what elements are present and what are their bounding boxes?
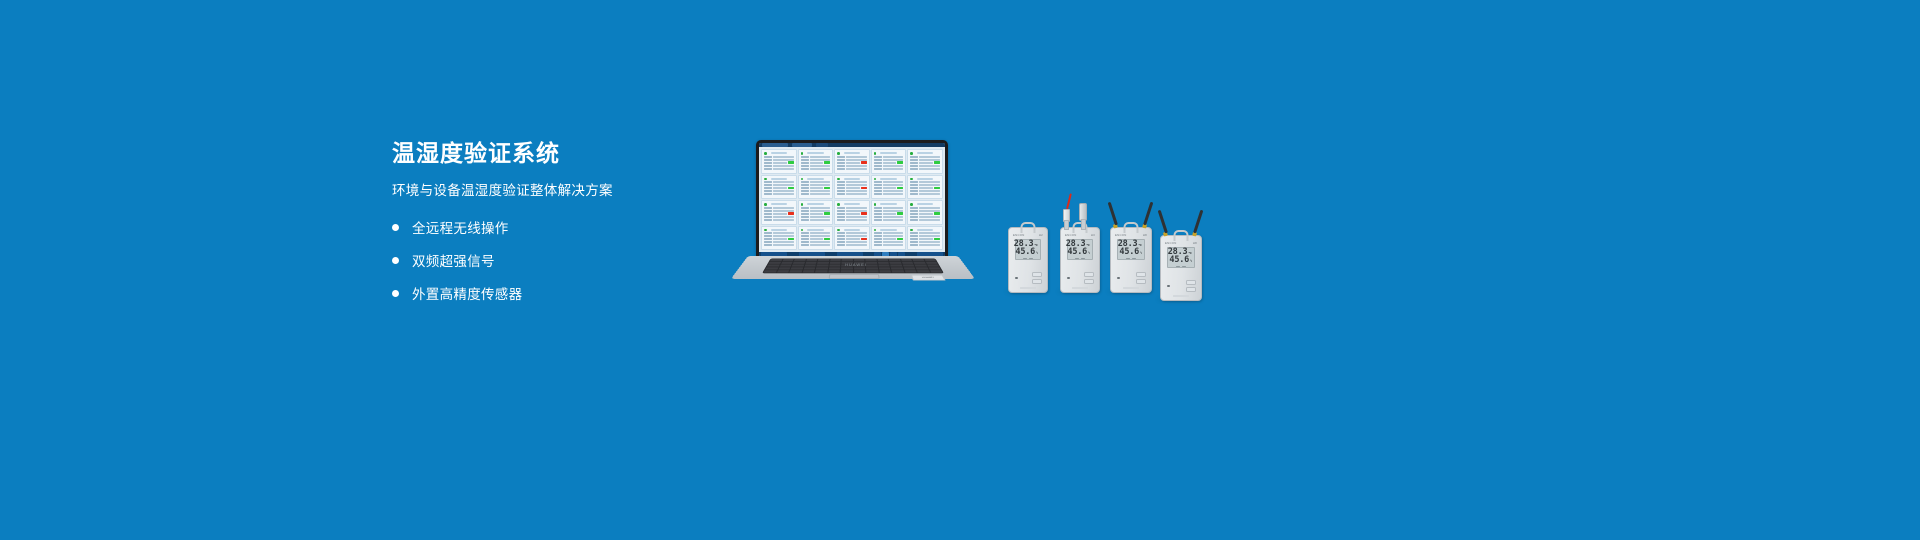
sensor-field-value: [810, 207, 831, 209]
sensor-field-value: [810, 241, 831, 243]
sensor-status-led: [801, 178, 804, 181]
sensor-card-field: [801, 216, 831, 218]
keyboard-key[interactable]: [854, 267, 866, 269]
sensor-ok-badge: [824, 187, 830, 190]
sensor-field-label: [764, 162, 772, 164]
sensor-field-label: [801, 241, 809, 243]
keyboard-key[interactable]: [927, 264, 939, 266]
sensor-field-value: [773, 213, 787, 215]
sensor-field-value: [846, 219, 867, 221]
sensor-field-value: [810, 165, 831, 167]
sensor-card-field: [874, 168, 904, 170]
sensor-field-label: [801, 207, 809, 209]
device-data-logger-compact[interactable]: ENCON H2 28.3 ℃ 45.6 %: [1008, 227, 1048, 293]
laptop-deck: HUAWEI: [731, 256, 975, 279]
keyboard-key[interactable]: [904, 270, 916, 272]
sensor-field-value: [810, 219, 831, 221]
sensor-field-value: [773, 241, 794, 243]
sensor-field-label: [910, 184, 918, 186]
sensor-field-label: [874, 159, 882, 161]
sensor-alarm-badge: [861, 161, 867, 164]
keyboard-key[interactable]: [889, 262, 901, 264]
keyboard-key[interactable]: [892, 270, 904, 272]
sensor-status-led: [874, 203, 877, 206]
sensor-field-label: [764, 184, 772, 186]
keyboard-key[interactable]: [803, 267, 815, 269]
sensor-card-field: [874, 244, 904, 246]
sensor-card[interactable]: [798, 149, 834, 174]
sensor-status-led: [837, 203, 840, 206]
sensor-card-title: [917, 229, 933, 231]
sensor-card-field: [837, 232, 867, 234]
device-led-indicator: [1015, 277, 1018, 280]
device-brand-right: H8: [1193, 241, 1197, 245]
keyboard-key[interactable]: [841, 267, 853, 269]
device-brand-row: ENCON H3: [1065, 233, 1095, 237]
sensor-status-led: [837, 229, 840, 232]
feature-item-2: 双频超强信号: [392, 250, 722, 270]
sensor-card-field: [874, 184, 904, 186]
sensor-card[interactable]: [761, 200, 797, 225]
sensor-field-label: [874, 219, 882, 221]
hang-loop-icon: [1124, 222, 1139, 233]
sensor-card-title: [771, 203, 787, 205]
device-key-up[interactable]: [1136, 272, 1146, 278]
sensor-card[interactable]: [907, 226, 943, 251]
keyboard-key[interactable]: [793, 262, 805, 264]
lcd-status-bit: [1182, 266, 1186, 267]
sensor-status-led: [874, 229, 877, 232]
sensor-field-label: [837, 190, 845, 192]
sensor-field-value: [883, 190, 904, 192]
device-data-logger-dual-antenna-2[interactable]: ENCON H8 28.3 ℃ 45.6 %: [1160, 235, 1202, 301]
sensor-field-label: [874, 193, 882, 195]
device-sticker: [1173, 295, 1189, 298]
sensor-card[interactable]: [761, 175, 797, 200]
keyboard-key[interactable]: [769, 262, 781, 264]
keyboard-key[interactable]: [925, 262, 937, 264]
sensor-field-label: [874, 165, 882, 167]
feature-item-3: 外置高精度传感器: [392, 283, 722, 303]
keyboard-key[interactable]: [778, 267, 790, 269]
device-lcd-display: 28.3 ℃ 45.6 %: [1167, 247, 1195, 268]
sensor-card[interactable]: [834, 175, 870, 200]
sensor-card-field: [801, 162, 831, 164]
keyboard-key[interactable]: [765, 267, 778, 269]
lcd-status-bit: [1132, 258, 1136, 259]
sensor-card-field: [874, 165, 904, 167]
sensor-card-title: [844, 178, 860, 180]
keyboard-key[interactable]: [781, 262, 793, 264]
sensor-field-label: [874, 187, 882, 189]
sensor-status-led: [837, 152, 840, 155]
sensor-field-label: [764, 165, 772, 167]
sensor-card[interactable]: [834, 149, 870, 174]
antenna-left-icon: [1107, 202, 1117, 226]
keyboard-key[interactable]: [828, 267, 840, 269]
sensor-card[interactable]: [907, 200, 943, 225]
sensor-field-label: [801, 190, 809, 192]
sensor-field-value: [883, 232, 904, 234]
keyboard-key[interactable]: [764, 270, 777, 272]
sensor-field-label: [764, 241, 772, 243]
sensor-card-field: [910, 238, 940, 240]
sensor-card[interactable]: [834, 226, 870, 251]
device-sticker: [1123, 287, 1139, 290]
sensor-field-label: [910, 232, 918, 234]
sensor-card-field: [764, 181, 794, 183]
sensor-card-field: [874, 187, 904, 189]
keyboard-key[interactable]: [866, 270, 878, 272]
sensor-field-value: [883, 207, 904, 209]
device-brand-right: H3: [1091, 233, 1095, 237]
keyboard-key[interactable]: [879, 270, 891, 272]
device-brand-right: H2: [1039, 233, 1043, 237]
sensor-field-label: [874, 181, 882, 183]
keyboard-key[interactable]: [792, 264, 804, 266]
sensor-card-field: [801, 238, 831, 240]
device-keypad[interactable]: [1186, 280, 1196, 293]
keyboard-key[interactable]: [913, 262, 925, 264]
sensor-card-field: [910, 232, 940, 234]
device-key-up[interactable]: [1084, 272, 1094, 278]
sensor-field-label: [874, 190, 882, 192]
sensor-card-field: [764, 232, 794, 234]
sensor-card-field: [837, 187, 867, 189]
sensor-card-field: [801, 210, 831, 212]
sensor-field-value: [883, 210, 904, 212]
sensor-card-field: [837, 216, 867, 218]
sensor-card-field: [837, 241, 867, 243]
sensor-card[interactable]: [907, 149, 943, 174]
sensor-field-value: [773, 232, 794, 234]
sensor-field-value: [919, 168, 940, 170]
sensor-card-field: [764, 162, 794, 164]
device-data-logger-dual-antenna-1[interactable]: ENCON H8 28.3 ℃ 45.6 %: [1110, 227, 1152, 293]
hang-loop-icon: [1174, 230, 1189, 241]
sensor-card-field: [801, 213, 831, 215]
sensor-field-label: [764, 235, 772, 237]
sensor-card-title: [880, 229, 896, 231]
sensor-status-led: [910, 229, 913, 232]
sensor-field-value: [919, 210, 940, 212]
laptop-screen: [759, 143, 945, 257]
sensor-field-label: [910, 193, 918, 195]
sensor-field-value: [919, 165, 940, 167]
sensor-card-field: [910, 235, 940, 237]
device-led-indicator: [1167, 285, 1170, 288]
antenna-right-icon: [1193, 210, 1203, 234]
sensor-card[interactable]: [761, 149, 797, 174]
sensor-field-label: [874, 241, 882, 243]
sensor-card-title: [917, 178, 933, 180]
sensor-status-led: [874, 178, 877, 181]
sensor-card-field: [874, 193, 904, 195]
sensor-field-value: [883, 168, 904, 170]
sensor-card-field: [764, 159, 794, 161]
lcd-status-bit: [1023, 258, 1027, 259]
sensor-card-title: [771, 152, 787, 154]
sensor-card-field: [764, 216, 794, 218]
sensor-field-label: [910, 159, 918, 161]
sensor-card-title: [880, 152, 896, 154]
sensor-card-field: [874, 232, 904, 234]
device-brand-row: ENCON H8: [1115, 233, 1147, 237]
device-brand-left: ENCON: [1165, 241, 1177, 245]
sensor-field-value: [773, 219, 794, 221]
device-lcd-display: 28.3 ℃ 45.6 %: [1117, 239, 1145, 260]
keyboard-key[interactable]: [816, 267, 828, 269]
sensor-field-label: [910, 244, 918, 246]
sensor-field-value: [846, 193, 867, 195]
sensor-field-label: [874, 216, 882, 218]
sensor-card-field: [801, 241, 831, 243]
lcd-humidity-unit: %: [1140, 252, 1142, 255]
sensor-field-value: [773, 238, 787, 240]
sensor-field-value: [883, 184, 904, 186]
sensor-card-field: [764, 210, 794, 212]
keyboard-key[interactable]: [890, 264, 902, 266]
sensor-card[interactable]: [907, 175, 943, 200]
device-sticker: [1072, 287, 1088, 290]
sensor-card-field: [837, 156, 867, 158]
sensor-field-label: [801, 165, 809, 167]
keyboard-key[interactable]: [915, 264, 927, 266]
sensor-card-field: [874, 235, 904, 237]
sensor-card-title: [917, 152, 933, 154]
sensor-field-label: [874, 168, 882, 170]
sensor-card[interactable]: [798, 200, 834, 225]
sensor-field-label: [910, 235, 918, 237]
sensor-card-field: [910, 168, 940, 170]
sensor-card-field: [764, 168, 794, 170]
sensor-card-field: [837, 210, 867, 212]
lcd-humidity-value: 45.6: [1119, 248, 1139, 257]
sensor-card-field: [874, 210, 904, 212]
lcd-status-bits: [1170, 266, 1192, 267]
sensor-field-label: [910, 181, 918, 183]
sensor-card-field: [837, 213, 867, 215]
device-data-logger-with-probe[interactable]: ENCON H3 28.3 ℃ 45.6 %: [1060, 227, 1100, 293]
bullet-dot-icon: [392, 257, 399, 264]
sensor-card-field: [801, 184, 831, 186]
device-keypad[interactable]: [1136, 272, 1146, 285]
sensor-field-value: [846, 210, 867, 212]
sensor-field-value: [919, 193, 940, 195]
device-key-down[interactable]: [1084, 279, 1094, 285]
sensor-card-field: [874, 159, 904, 161]
sensor-card-field: [801, 207, 831, 209]
sensor-status-led: [764, 178, 767, 181]
device-key-up[interactable]: [1032, 272, 1042, 278]
keyboard-key[interactable]: [779, 264, 791, 266]
sensor-field-value: [773, 168, 794, 170]
sensor-card-field: [874, 181, 904, 183]
keyboard-key[interactable]: [815, 270, 827, 272]
sensor-field-label: [837, 235, 845, 237]
sensor-field-label: [837, 213, 845, 215]
sensor-card[interactable]: [871, 175, 907, 200]
sensor-status-led: [910, 152, 913, 155]
keyboard-key[interactable]: [878, 267, 890, 269]
sensor-field-label: [764, 156, 772, 158]
sensor-card-field: [874, 162, 904, 164]
sensor-field-label: [837, 219, 845, 221]
keyboard-key[interactable]: [916, 267, 928, 269]
sensor-field-value: [883, 241, 904, 243]
sensor-card-field: [910, 216, 940, 218]
sensor-status-led: [764, 203, 767, 206]
sensor-ok-badge: [934, 238, 940, 241]
device-key-up[interactable]: [1186, 280, 1196, 286]
lcd-status-bit: [1126, 258, 1130, 259]
sensor-card-field: [874, 207, 904, 209]
sensor-ok-badge: [897, 161, 903, 164]
sensor-field-value: [846, 162, 860, 164]
lcd-humidity-value: 45.6: [1015, 248, 1035, 257]
sensor-field-value: [919, 187, 933, 189]
keyboard-key[interactable]: [928, 267, 941, 269]
lcd-humidity-line: 45.6 %: [1170, 256, 1192, 265]
keyboard-key[interactable]: [789, 270, 801, 272]
sensor-card-field: [910, 156, 940, 158]
sensor-field-value: [773, 162, 787, 164]
sensor-field-label: [801, 235, 809, 237]
sensor-card[interactable]: [871, 149, 907, 174]
keyboard-key[interactable]: [767, 264, 779, 266]
feature-label: 外置高精度传感器: [412, 283, 522, 303]
keyboard-key[interactable]: [917, 270, 930, 272]
sensor-card[interactable]: [798, 175, 834, 200]
sensor-field-value: [810, 238, 824, 240]
device-keypad[interactable]: [1084, 272, 1094, 285]
device-key-down[interactable]: [1032, 279, 1042, 285]
sensor-card-field: [801, 244, 831, 246]
sensor-field-value: [883, 244, 904, 246]
sensor-card-field: [764, 213, 794, 215]
sensor-field-value: [810, 168, 831, 170]
sensor-card[interactable]: [871, 200, 907, 225]
lcd-status-bit: [1029, 258, 1033, 259]
sensor-card-field: [910, 181, 940, 183]
sensor-field-label: [764, 159, 772, 161]
sensor-card-field: [764, 156, 794, 158]
sensor-field-value: [810, 235, 831, 237]
lcd-humidity-unit: %: [1036, 252, 1038, 255]
feature-list: 全远程无线操作 双频超强信号 外置高精度传感器: [392, 217, 722, 303]
device-brand-row: ENCON H8: [1165, 241, 1197, 245]
sensor-card-field: [801, 190, 831, 192]
sensor-field-value: [846, 238, 860, 240]
sensor-field-label: [910, 216, 918, 218]
sensor-ok-badge: [897, 238, 903, 241]
sensor-card-field: [837, 219, 867, 221]
sensor-field-value: [773, 156, 794, 158]
sensor-card-field: [764, 190, 794, 192]
sensor-field-label: [910, 156, 918, 158]
sensor-field-value: [810, 232, 831, 234]
sensor-field-label: [801, 159, 809, 161]
sensor-field-label: [764, 187, 772, 189]
sensor-field-value: [846, 216, 867, 218]
keyboard-key[interactable]: [802, 270, 814, 272]
sensor-card[interactable]: [871, 226, 907, 251]
sensor-ok-badge: [934, 187, 940, 190]
sensor-field-label: [801, 216, 809, 218]
sensor-card-field: [910, 207, 940, 209]
device-key-down[interactable]: [1136, 279, 1146, 285]
sensor-card-field: [910, 193, 940, 195]
sensor-ok-badge: [934, 212, 940, 215]
sensor-card[interactable]: [761, 226, 797, 251]
device-keypad[interactable]: [1032, 272, 1042, 285]
sensor-field-value: [883, 193, 904, 195]
keyboard-key[interactable]: [901, 262, 913, 264]
probe-neck: [1064, 220, 1069, 230]
sensor-card-field: [801, 193, 831, 195]
keyboard-key[interactable]: [866, 267, 878, 269]
sensor-ok-badge: [788, 238, 794, 241]
sensor-field-value: [846, 207, 867, 209]
sensor-card-field: [837, 165, 867, 167]
sensor-field-value: [810, 244, 831, 246]
probe-cable: [1066, 193, 1071, 209]
laptop-trackpad[interactable]: [829, 274, 880, 279]
sensor-field-label: [837, 187, 845, 189]
device-key-down[interactable]: [1186, 287, 1196, 293]
keyboard-key[interactable]: [805, 262, 817, 264]
keyboard-key[interactable]: [828, 270, 840, 272]
sensor-alarm-badge: [861, 187, 867, 190]
sensor-field-value: [883, 219, 904, 221]
sensor-field-label: [837, 238, 845, 240]
sensor-field-label: [874, 235, 882, 237]
sensor-field-label: [837, 207, 845, 209]
sensor-ok-badge: [788, 161, 794, 164]
sensor-card[interactable]: [834, 200, 870, 225]
sensor-field-label: [837, 193, 845, 195]
sensor-field-value: [810, 184, 831, 186]
keyboard-key[interactable]: [841, 270, 853, 272]
sensor-field-value: [773, 159, 794, 161]
antenna-left-icon: [1157, 210, 1167, 234]
sensor-field-label: [764, 190, 772, 192]
keyboard-key[interactable]: [791, 267, 803, 269]
sensor-card-field: [874, 216, 904, 218]
sensor-card-title: [880, 203, 896, 205]
sensor-card-field: [910, 244, 940, 246]
sensor-card[interactable]: [798, 226, 834, 251]
lcd-humidity-value: 45.6: [1169, 256, 1189, 265]
sensor-field-label: [837, 244, 845, 246]
sensor-field-label: [874, 244, 882, 246]
keyboard-key[interactable]: [776, 270, 789, 272]
keyboard-key[interactable]: [902, 264, 914, 266]
sensor-card-field: [801, 156, 831, 158]
keyboard-key[interactable]: [804, 264, 816, 266]
keyboard-key[interactable]: [854, 270, 866, 272]
sensor-field-label: [764, 210, 772, 212]
sensor-card-field: [801, 181, 831, 183]
sensor-ok-badge: [788, 187, 794, 190]
lcd-status-bits: [1120, 258, 1142, 259]
keyboard-key[interactable]: [930, 270, 943, 272]
keyboard-key[interactable]: [891, 267, 903, 269]
keyboard-key[interactable]: [903, 267, 915, 269]
sensor-ok-badge: [824, 161, 830, 164]
sensor-field-value: [846, 168, 867, 170]
sensor-field-label: [837, 168, 845, 170]
